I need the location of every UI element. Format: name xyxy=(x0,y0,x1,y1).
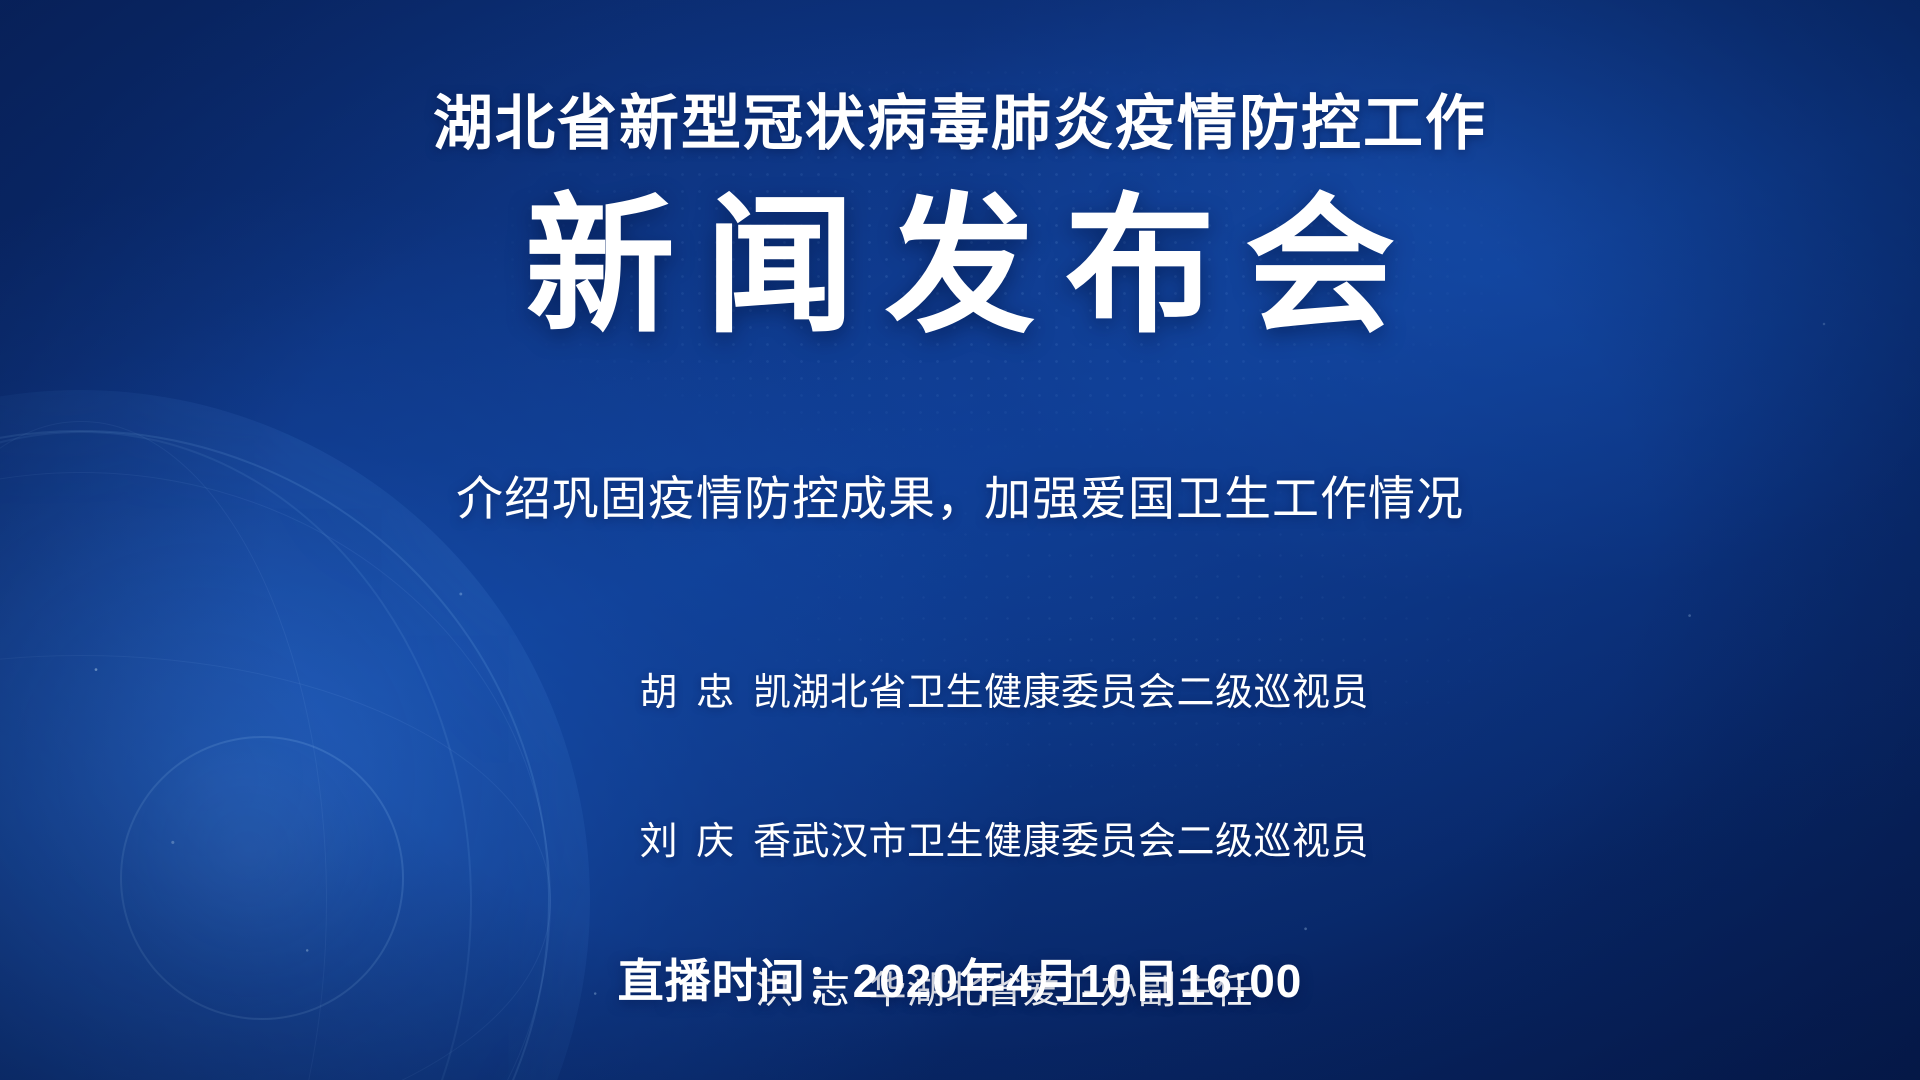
speaker-title: 湖北省卫生健康委员会二级巡视员 xyxy=(791,674,1369,712)
slide-content: 湖北省新型冠状病毒肺炎疫情防控工作 新闻发布会 介绍巩固疫情防控成果，加强爱国卫… xyxy=(0,0,1920,1080)
speaker-list: 胡忠凯湖北省卫生健康委员会二级巡视员 刘庆香武汉市卫生健康委员会二级巡视员 洪志… xyxy=(0,636,1920,1080)
press-conference-slide: 湖北省新型冠状病毒肺炎疫情防控工作 新闻发布会 介绍巩固疫情防控成果，加强爱国卫… xyxy=(0,0,1920,1080)
list-item: 刘庆香武汉市卫生健康委员会二级巡视员 xyxy=(0,785,1920,899)
event-kicker-title: 湖北省新型冠状病毒肺炎疫情防控工作 xyxy=(0,92,1920,155)
speaker-name: 刘庆香 xyxy=(639,823,791,861)
list-item: 胡忠凯湖北省卫生健康委员会二级巡视员 xyxy=(0,636,1920,750)
event-subtitle: 介绍巩固疫情防控成果，加强爱国卫生工作情况 xyxy=(0,460,1920,529)
speaker-name: 胡忠凯 xyxy=(639,674,791,712)
speaker-title: 武汉市卫生健康委员会二级巡视员 xyxy=(791,823,1369,861)
live-broadcast-time: 直播时间：2020年4月10日16:00 xyxy=(0,945,1920,1011)
page-title: 新闻发布会 xyxy=(0,185,1920,347)
